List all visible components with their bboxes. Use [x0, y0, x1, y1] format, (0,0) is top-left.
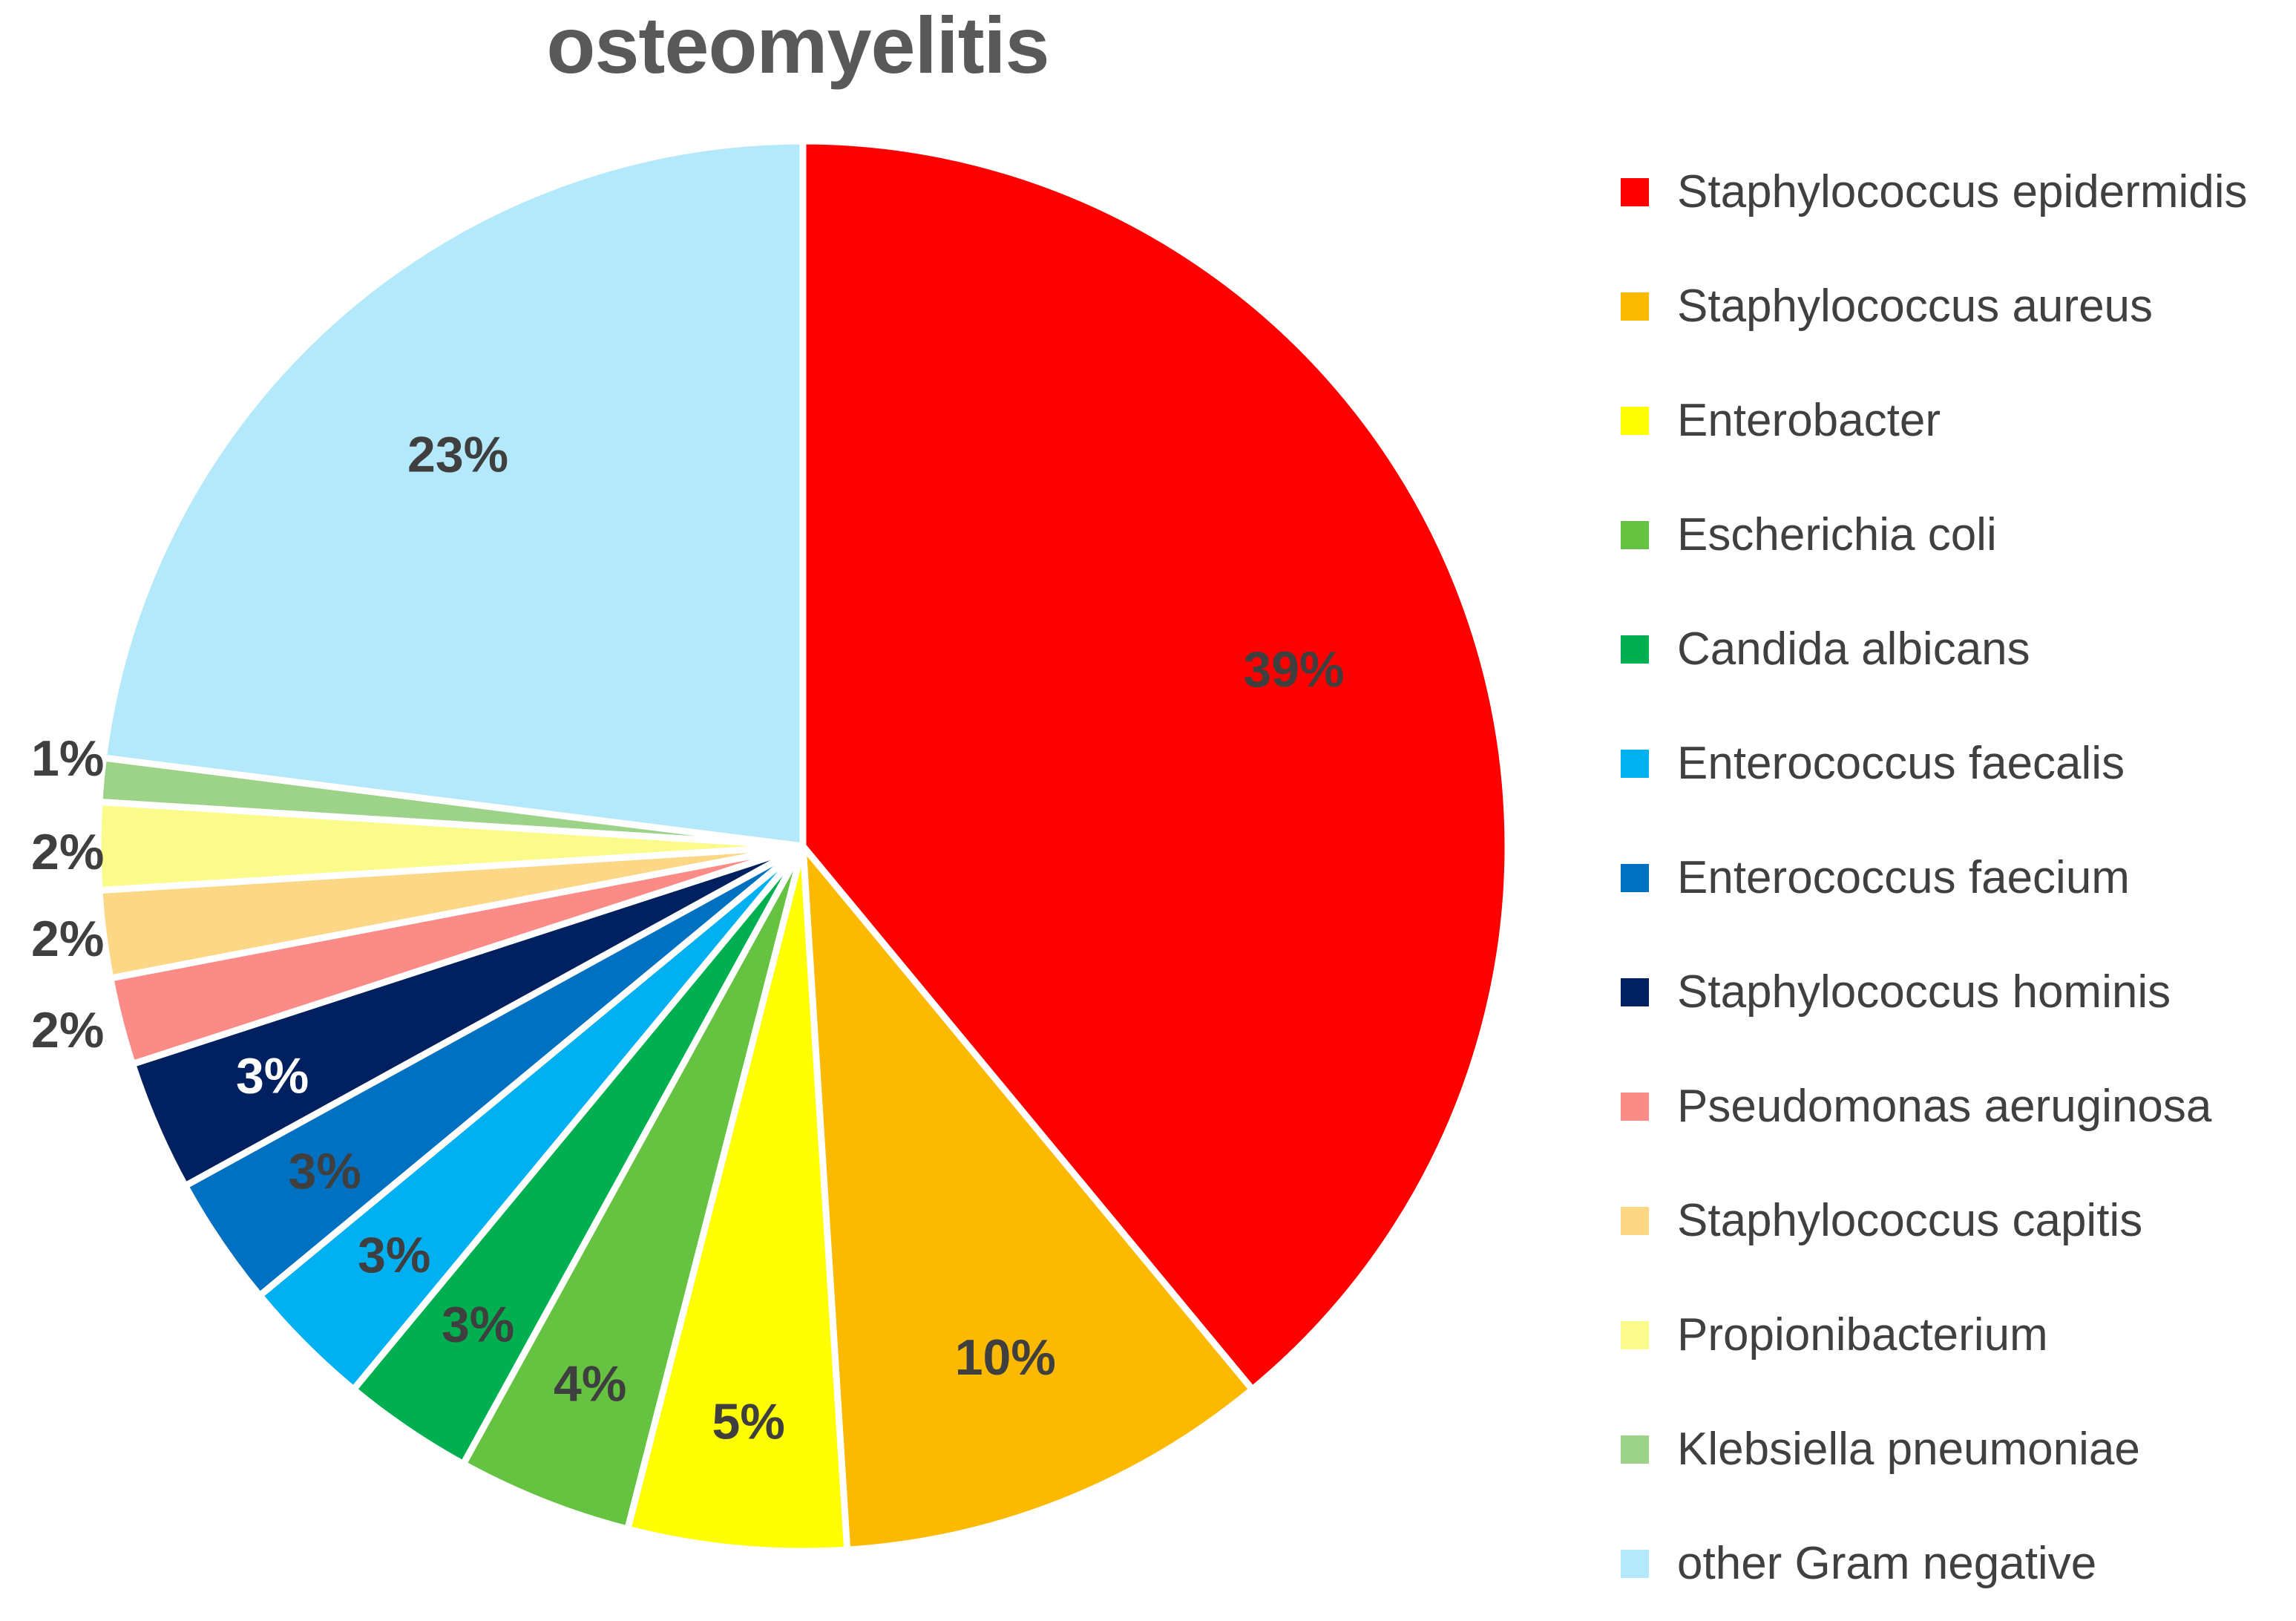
legend-swatch-icon [1621, 1321, 1649, 1349]
legend-item-label: Staphylococcus epidermidis [1677, 169, 2248, 215]
legend-item-label: Candida albicans [1677, 626, 2030, 672]
legend-swatch-icon [1621, 292, 1649, 321]
legend-item[interactable]: Staphylococcus capitis [1621, 1164, 2289, 1278]
chart-legend: Staphylococcus epidermidisStaphylococcus… [1621, 135, 2289, 1621]
pie-slice-label: 1% [31, 730, 104, 787]
pie-slice-label: 3% [236, 1047, 309, 1104]
legend-item-label: Enterococcus faecalis [1677, 741, 2125, 787]
legend-item[interactable]: Staphylococcus hominis [1621, 935, 2289, 1049]
legend-swatch-icon [1621, 978, 1649, 1006]
legend-item[interactable]: Enterobacter [1621, 364, 2289, 478]
pie-slice[interactable] [103, 141, 803, 846]
pie-slice-label: 2% [31, 1002, 104, 1058]
legend-item-label: Pseudomonas aeruginosa [1677, 1084, 2211, 1130]
legend-item-label: Staphylococcus hominis [1677, 969, 2171, 1015]
legend-item-label: Propionibacterium [1677, 1312, 2048, 1358]
legend-swatch-icon [1621, 178, 1649, 206]
legend-item[interactable]: Staphylococcus epidermidis [1621, 135, 2289, 249]
legend-swatch-icon [1621, 407, 1649, 435]
pie-slice-label: 2% [31, 911, 104, 967]
pie-slice-label: 3% [289, 1143, 361, 1199]
pie-slice-label: 3% [358, 1227, 430, 1283]
legend-item[interactable]: Staphylococcus aureus [1621, 249, 2289, 364]
legend-swatch-icon [1621, 1435, 1649, 1464]
legend-item[interactable]: Pseudomonas aeruginosa [1621, 1049, 2289, 1164]
pie-slice-label: 2% [31, 824, 104, 880]
legend-item-label: Staphylococcus aureus [1677, 284, 2153, 330]
legend-swatch-icon [1621, 521, 1649, 549]
legend-swatch-icon [1621, 635, 1649, 664]
pie-chart-svg: 39%10%5%4%3%3%3%3%2%2%2%1%23% [0, 0, 1610, 1584]
legend-item[interactable]: other Gram negative [1621, 1507, 2289, 1621]
legend-swatch-icon [1621, 1550, 1649, 1578]
legend-swatch-icon [1621, 864, 1649, 892]
legend-item[interactable]: Enterococcus faecalis [1621, 707, 2289, 821]
pie-slices [98, 141, 1508, 1551]
legend-swatch-icon [1621, 1207, 1649, 1235]
pie-slice-label: 39% [1243, 641, 1344, 698]
legend-item[interactable]: Enterococcus faecium [1621, 821, 2289, 935]
legend-item[interactable]: Klebsiella pneumoniae [1621, 1392, 2289, 1507]
legend-item-label: Klebsiella pneumoniae [1677, 1427, 2140, 1473]
legend-item-label: Enterococcus faecium [1677, 855, 2130, 901]
pie-slice-label: 3% [442, 1296, 514, 1352]
legend-item-label: Enterobacter [1677, 398, 1941, 444]
legend-swatch-icon [1621, 750, 1649, 778]
pie-chart: 39%10%5%4%3%3%3%3%2%2%2%1%23% [0, 0, 1610, 1584]
pie-slice-label: 10% [955, 1329, 1056, 1386]
legend-item[interactable]: Candida albicans [1621, 592, 2289, 707]
legend-item[interactable]: Escherichia coli [1621, 478, 2289, 592]
pie-slice-label: 23% [407, 427, 508, 483]
legend-swatch-icon [1621, 1093, 1649, 1121]
legend-item-label: Escherichia coli [1677, 512, 1997, 558]
pie-slice-label: 4% [554, 1355, 626, 1412]
legend-item-label: other Gram negative [1677, 1541, 2096, 1587]
pie-slice-label: 5% [712, 1394, 785, 1450]
legend-item[interactable]: Propionibacterium [1621, 1278, 2289, 1392]
legend-item-label: Staphylococcus capitis [1677, 1198, 2142, 1244]
